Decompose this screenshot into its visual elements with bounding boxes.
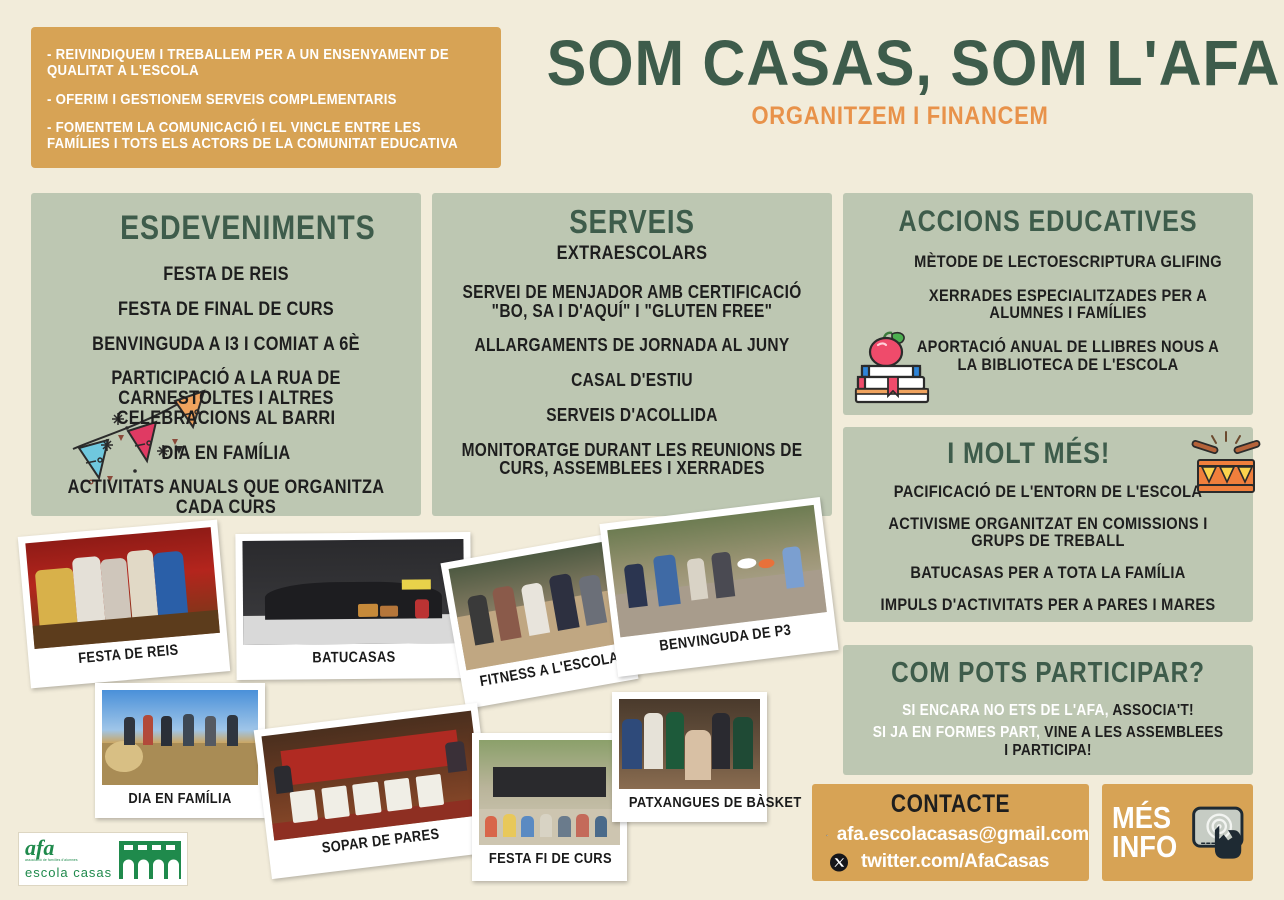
panel-molt-mes-title: I MOLT MÉS! — [876, 437, 1220, 471]
photo-image-dia-en-familia — [102, 690, 258, 785]
panel-esdeveniments-list: FESTA DE REIS FESTA DE FINAL DE CURS BEN… — [31, 265, 421, 518]
list-item: MONITORATGE DURANT LES REUNIONS DE CURS,… — [460, 441, 804, 478]
mission-statement-box: - REIVINDIQUEM I TREBALLEM PER A UN ENSE… — [31, 27, 501, 168]
list-item: FESTA DE REIS — [58, 265, 393, 285]
panel-participar-lines: SI ENCARA NO ETS DE L'AFA, ASSOCIA'T! SI… — [843, 702, 1253, 760]
panel-com-pots-participar: COM POTS PARTICIPAR? SI ENCARA NO ETS DE… — [843, 645, 1253, 775]
list-item: IMPULS D'ACTIVITATS PER A PARES I MARES — [872, 596, 1225, 614]
mes-info-line-2: INFO — [1112, 833, 1177, 862]
photo-caption: FESTA FI DE CURS — [489, 845, 610, 874]
list-item: CASAL D'ESTIU — [460, 371, 804, 390]
list-item: ALLARGAMENTS DE JORNADA AL JUNY — [460, 336, 804, 355]
panel-accions-title: ACCIONS EDUCATIVES — [876, 205, 1220, 239]
contact-email-row[interactable]: afa.escolacasas@gmail.com — [812, 824, 1089, 846]
list-item: PACIFICACIÓ DE L'ENTORN DE L'ESCOLA — [872, 483, 1225, 501]
photo-card[interactable]: FESTA DE REIS — [18, 520, 230, 689]
list-item: ACTIVITATS ANUALS QUE ORGANITZA CADA CUR… — [58, 478, 393, 518]
photo-caption: DIA EN FAMÍLIA — [113, 785, 247, 814]
list-item: APORTACIÓ ANUAL DE LLIBRES NOUS A LA BIB… — [909, 338, 1227, 373]
x-twitter-icon — [826, 853, 852, 872]
photo-image-festa-fi-de-curs — [479, 740, 620, 845]
afa-logo-word: afa — [25, 838, 114, 858]
list-item: FESTA DE FINAL DE CURS — [58, 300, 393, 320]
panel-serveis: SERVEIS EXTRAESCOLARS SERVEI DE MENJADOR… — [432, 193, 832, 516]
page-subtitle: ORGANITZEM I FINANCEM — [566, 102, 1235, 131]
mes-info-button[interactable]: MÉS INFO — [1102, 784, 1253, 881]
panel-molt-mes-list: PACIFICACIÓ DE L'ENTORN DE L'ESCOLA ACTI… — [843, 483, 1253, 613]
photo-card[interactable]: BENVINGUDA DE P3 — [599, 497, 838, 677]
contact-twitter-text: twitter.com/AfaCasas — [861, 851, 1049, 873]
contact-email-text: afa.escolacasas@gmail.com — [837, 824, 1089, 846]
panel-serveis-list: SERVEI DE MENJADOR AMB CERTIFICACIÓ "BO,… — [432, 283, 832, 478]
panel-serveis-subtitle: EXTRAESCOLARS — [460, 243, 804, 265]
list-item: XERRADES ESPECIALITZADES PER A ALUMNES I… — [909, 287, 1227, 322]
mission-line-1: - REIVINDIQUEM I TREBALLEM PER A UN ENSE… — [47, 47, 486, 79]
contact-title: CONTACTE — [834, 790, 1067, 819]
photo-image-batucasas — [242, 539, 464, 645]
panel-esdeveniments-title: ESDEVENIMENTS — [62, 209, 390, 248]
photo-image-festa-de-reis — [25, 527, 220, 649]
photo-caption: PATXANGUES DE BÀSKET — [629, 789, 750, 818]
afa-logo-text: afa associació de famílies d'alumnes esc… — [25, 838, 114, 879]
mes-info-label: MÉS INFO — [1112, 804, 1177, 861]
list-item: BENVINGUDA A I3 I COMIAT A 6È — [58, 335, 393, 355]
mission-line-2: - OFERIM I GESTIONEM SERVEIS COMPLEMENTA… — [47, 92, 486, 108]
afa-logo-school: escola casas — [25, 865, 114, 880]
list-item: DIA EN FAMÍLIA — [58, 444, 393, 464]
list-item: SERVEIS D'ACOLLIDA — [460, 406, 804, 425]
photo-image-patxangues-basket — [619, 699, 760, 789]
drum-icon — [1186, 430, 1266, 500]
photo-card[interactable]: PATXANGUES DE BÀSKET — [612, 692, 767, 822]
participar-line-2: SI JA EN FORMES PART, VINE A LES ASSEMBL… — [872, 724, 1225, 760]
list-item: ACTIVISME ORGANITZAT EN COMISSIONS I GRU… — [872, 515, 1225, 550]
panel-serveis-title: SERVEIS — [464, 203, 800, 241]
participar-line-1-dark: ASSOCIA'T! — [1112, 702, 1194, 719]
afa-logo-tagline: associació de famílies d'alumnes — [25, 859, 114, 862]
contact-twitter-row[interactable]: twitter.com/AfaCasas — [812, 851, 1089, 873]
participar-line-1-white: SI ENCARA NO ETS DE L'AFA, — [902, 702, 1112, 719]
envelope-icon — [826, 826, 828, 845]
tap-hand-icon — [1190, 795, 1253, 871]
photo-card[interactable]: DIA EN FAMÍLIA — [95, 683, 265, 818]
list-item: PARTICIPACIÓ A LA RUA DE CARNESTOLTES I … — [58, 369, 393, 428]
list-item: SERVEI DE MENJADOR AMB CERTIFICACIÓ "BO,… — [460, 283, 804, 320]
panel-esdeveniments: ESDEVENIMENTS FESTA DE REIS FESTA DE FIN… — [31, 193, 421, 516]
list-item: MÈTODE DE LECTOESCRIPTURA GLIFING — [909, 253, 1227, 271]
poster-header: SOM CASAS, SOM L'AFA! ORGANITZEM I FINAN… — [520, 32, 1280, 131]
page-title: SOM CASAS, SOM L'AFA! — [547, 32, 1254, 95]
photo-caption: BATUCASAS — [259, 643, 449, 674]
school-building-icon — [119, 839, 181, 879]
participar-line-2-white: SI JA EN FORMES PART, — [873, 724, 1045, 741]
contact-box: CONTACTE afa.escolacasas@gmail.com twitt… — [812, 784, 1089, 881]
photo-card[interactable]: SOPAR DE PARES — [254, 703, 496, 879]
photo-card[interactable]: FESTA FI DE CURS — [472, 733, 627, 881]
participar-line-1: SI ENCARA NO ETS DE L'AFA, ASSOCIA'T! — [872, 702, 1225, 720]
photo-card[interactable]: BATUCASAS — [235, 532, 471, 680]
panel-participar-title: COM POTS PARTICIPAR? — [876, 657, 1220, 690]
afa-logo: afa associació de famílies d'alumnes esc… — [18, 832, 188, 886]
poster-canvas: - REIVINDIQUEM I TREBALLEM PER A UN ENSE… — [0, 0, 1284, 900]
books-apple-icon — [848, 328, 940, 412]
mission-line-3: - FOMENTEM LA COMUNICACIÓ I EL VINCLE EN… — [47, 120, 486, 152]
list-item: BATUCASAS PER A TOTA LA FAMÍLIA — [872, 564, 1225, 582]
